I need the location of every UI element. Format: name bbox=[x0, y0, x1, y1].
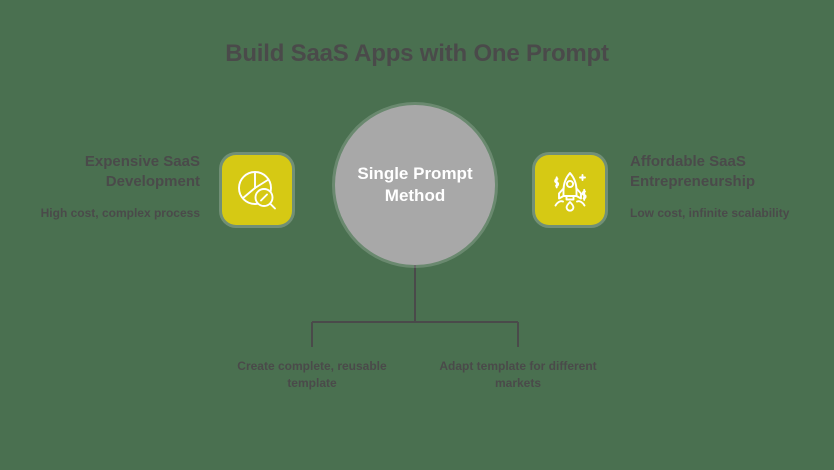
left-text-block: Expensive SaaS Development High cost, co… bbox=[20, 152, 200, 221]
right-caption: Low cost, infinite scalability bbox=[630, 205, 810, 222]
center-node-label: Single Prompt Method bbox=[355, 163, 475, 207]
center-node[interactable]: Single Prompt Method bbox=[335, 105, 495, 265]
left-icon-box[interactable] bbox=[222, 155, 292, 225]
right-icon-box[interactable] bbox=[535, 155, 605, 225]
left-caption: High cost, complex process bbox=[20, 205, 200, 222]
page-title: Build SaaS Apps with One Prompt bbox=[0, 40, 834, 68]
right-text-block: Affordable SaaS Entrepreneurship Low cos… bbox=[630, 152, 810, 221]
branch-label-2: Adapt template for different markets bbox=[423, 358, 613, 393]
right-heading: Affordable SaaS Entrepreneurship bbox=[630, 152, 810, 193]
infographic-canvas: Build SaaS Apps with One Prompt Expensiv… bbox=[0, 0, 834, 470]
branch-label-1: Create complete, reusable template bbox=[217, 358, 407, 393]
pie-chart-magnifier-icon bbox=[234, 167, 280, 213]
rocket-dollar-icon bbox=[547, 167, 593, 213]
left-heading: Expensive SaaS Development bbox=[20, 152, 200, 193]
